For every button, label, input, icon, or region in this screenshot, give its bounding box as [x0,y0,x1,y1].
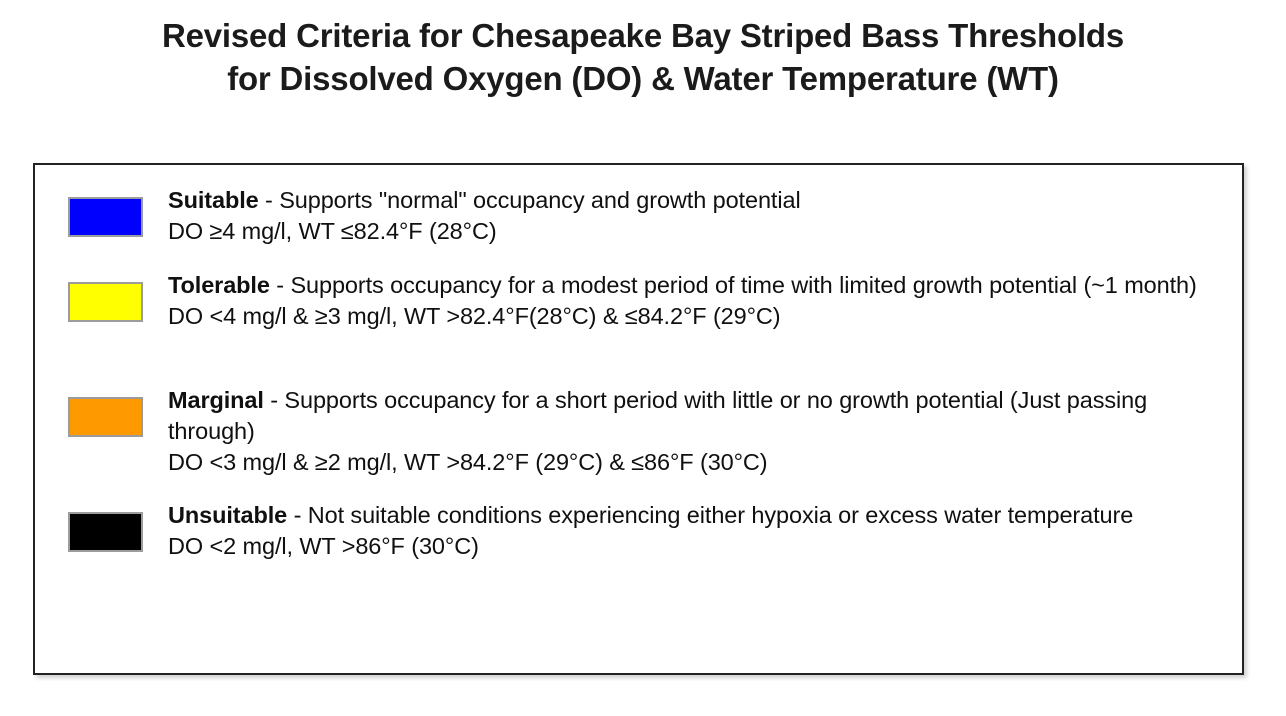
legend-separator-marginal: - [264,387,285,413]
legend-criteria-unsuitable: DO <2 mg/l, WT >86°F (30°C) [168,531,1228,562]
legend-term-unsuitable: Unsuitable [168,502,287,528]
color-swatch-unsuitable [68,512,143,552]
legend-text-unsuitable: Unsuitable - Not suitable conditions exp… [168,500,1228,562]
color-swatch-marginal [68,397,143,437]
color-swatch-tolerable [68,282,143,322]
title-line-1: Revised Criteria for Chesapeake Bay Stri… [40,14,1246,57]
legend-criteria-suitable: DO ≥4 mg/l, WT ≤82.4°F (28°C) [168,216,1228,247]
legend-description-marginal: Supports occupancy for a short period wi… [168,387,1147,444]
legend-term-tolerable: Tolerable [168,272,270,298]
legend-text-tolerable: Tolerable - Supports occupancy for a mod… [168,270,1228,332]
legend-description-suitable: Supports "normal" occupancy and growth p… [279,187,800,213]
legend-term-marginal: Marginal [168,387,264,413]
legend-separator-suitable: - [259,187,280,213]
slide-canvas: Revised Criteria for Chesapeake Bay Stri… [0,0,1286,716]
legend-separator-unsuitable: - [287,502,308,528]
legend-separator-tolerable: - [270,272,291,298]
legend-description-unsuitable: Not suitable conditions experiencing eit… [308,502,1134,528]
legend-criteria-marginal: DO <3 mg/l & ≥2 mg/l, WT >84.2°F (29°C) … [168,447,1228,478]
legend-panel: Suitable - Supports "normal" occupancy a… [33,163,1244,675]
page-title: Revised Criteria for Chesapeake Bay Stri… [40,14,1246,100]
color-swatch-suitable [68,197,143,237]
title-line-2: for Dissolved Oxygen (DO) & Water Temper… [40,57,1246,100]
legend-description-tolerable: Supports occupancy for a modest period o… [290,272,1196,298]
legend-text-marginal: Marginal - Supports occupancy for a shor… [168,385,1228,478]
legend-term-suitable: Suitable [168,187,259,213]
legend-text-suitable: Suitable - Supports "normal" occupancy a… [168,185,1228,247]
legend-criteria-tolerable: DO <4 mg/l & ≥3 mg/l, WT >82.4°F(28°C) &… [168,301,1228,332]
